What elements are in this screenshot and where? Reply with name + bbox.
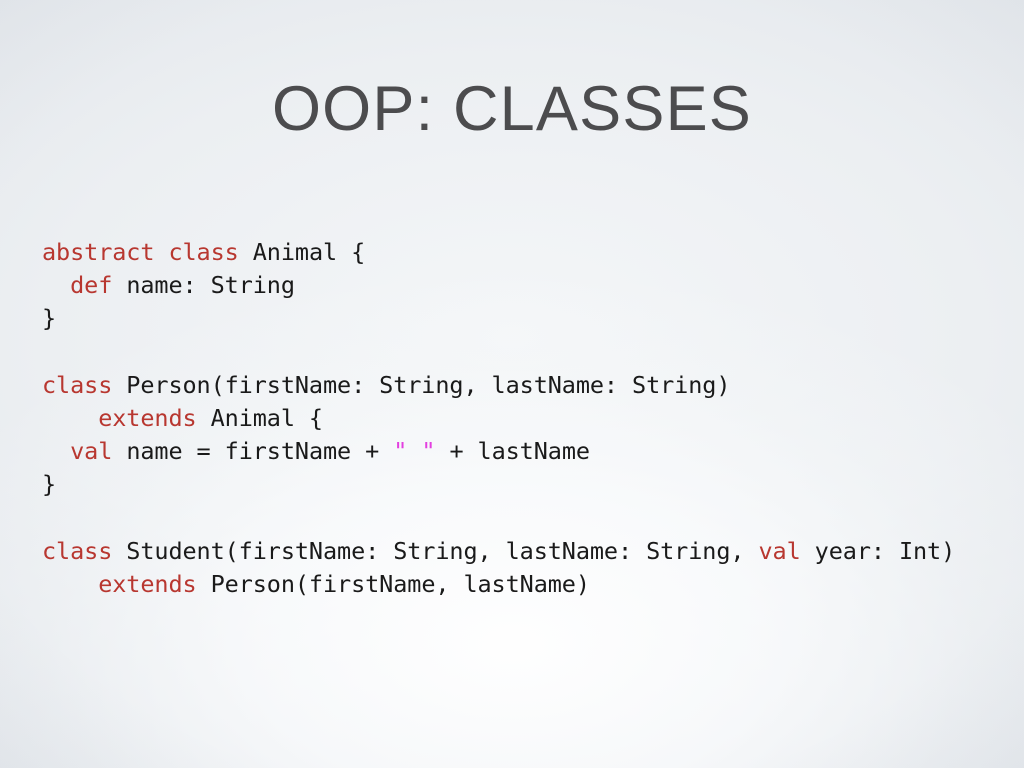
page-title: OOP: CLASSES: [0, 78, 1024, 141]
code-text: name: String: [112, 271, 295, 299]
code-keyword: class: [168, 238, 238, 266]
code-line: extends Animal {: [42, 402, 955, 435]
slide-canvas: OOP: CLASSES abstract class Animal { def…: [0, 0, 1024, 768]
code-line: class Student(firstName: String, lastNam…: [42, 535, 955, 568]
code-line: }: [42, 468, 955, 501]
code-line: extends Person(firstName, lastName): [42, 568, 955, 601]
code-text: [42, 271, 70, 299]
code-text: + lastName: [435, 437, 590, 465]
code-text: [42, 570, 98, 598]
code-text: [42, 404, 98, 432]
code-text: [154, 238, 168, 266]
code-text: Student(firstName: String, lastName: Str…: [112, 537, 758, 565]
code-keyword: abstract: [42, 238, 154, 266]
code-text: [42, 437, 70, 465]
code-line: class Person(firstName: String, lastName…: [42, 369, 955, 402]
code-line: }: [42, 302, 955, 335]
code-text: year: Int): [801, 537, 956, 565]
code-text: Animal {: [197, 404, 323, 432]
code-text: }: [42, 470, 56, 498]
code-keyword: class: [42, 371, 112, 399]
code-text: Animal {: [239, 238, 365, 266]
code-string-literal: " ": [393, 437, 435, 465]
code-line: [42, 336, 955, 369]
code-keyword: val: [70, 437, 112, 465]
code-keyword: extends: [98, 404, 196, 432]
code-keyword: class: [42, 537, 112, 565]
code-line: [42, 502, 955, 535]
code-keyword: def: [70, 271, 112, 299]
code-text: name = firstName +: [112, 437, 393, 465]
code-text: }: [42, 304, 56, 332]
code-line: val name = firstName + " " + lastName: [42, 435, 955, 468]
code-keyword: val: [758, 537, 800, 565]
code-line: def name: String: [42, 269, 955, 302]
code-line: abstract class Animal {: [42, 236, 955, 269]
code-keyword: extends: [98, 570, 196, 598]
code-text: Person(firstName, lastName): [197, 570, 590, 598]
code-block: abstract class Animal { def name: String…: [42, 236, 955, 601]
code-text: Person(firstName: String, lastName: Stri…: [112, 371, 730, 399]
